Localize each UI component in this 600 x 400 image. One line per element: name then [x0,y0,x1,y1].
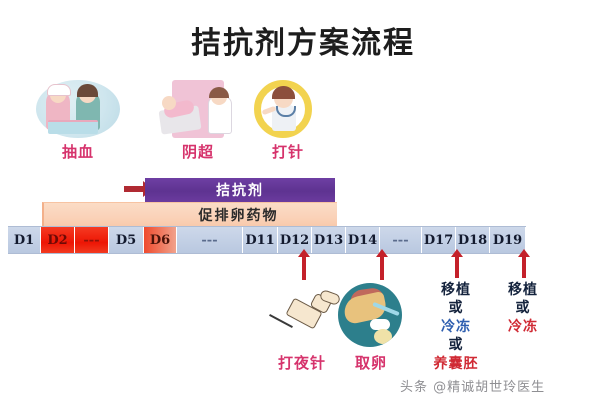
phase-bar-antagonist-label: 拮抗剂 [216,180,264,200]
arrow-up-icon-outcome-1 [455,256,459,278]
ultrasound-doctor-hair [209,87,229,98]
timeline-cell: D11 [243,227,278,253]
outcome-line: 冷冻 [495,318,551,336]
step-blood-draw: 抽血 [30,78,126,162]
timeline-cell: D13 [312,227,346,253]
infographic-root: 拮抗剂方案流程 抽血 [0,0,600,400]
phase-bar-stimulation: 促排卵药物 [42,202,337,227]
arrow-up-icon-outcome-2 [522,256,526,278]
outcome-line: 养囊胚 [428,355,484,373]
timeline-cell: D14 [346,227,380,253]
timeline: D1D2---D5D6---D11D12D13D14---D17D18D19 [8,226,526,254]
nurse-cap-icon [47,84,71,96]
process-step-strip: 抽血 阴超 打针 [0,78,600,168]
blood-draw-illustration [30,78,126,140]
arrow-right-icon-1 [124,186,144,192]
ultrasound-illustration [150,78,246,140]
outcome-line: 移植 [495,281,551,299]
timeline-cell: D1 [8,227,41,253]
phase-bar-antagonist: 拮抗剂 [145,178,335,202]
callout-label-egg-retrieval: 取卵 [330,352,412,373]
timeline-cell: D6 [144,227,177,253]
syringe-illustration [262,288,342,348]
callout-egg-retrieval: 取卵 [330,352,412,373]
step-ultrasound: 阴超 [150,78,246,162]
patient-hair [77,84,98,97]
phase-bar-stimulation-label: 促排卵药物 [103,205,279,225]
timeline-cell: --- [177,227,243,253]
oocyte-shape [374,329,392,344]
arrow-up-icon-trigger [302,256,306,280]
step-injection: 打针 [240,78,336,162]
outcome-line: 或 [428,336,484,354]
timeline-cell: --- [75,227,109,253]
outcome-line: 移植 [428,281,484,299]
step-label-ultrasound: 阴超 [150,141,246,162]
egg-retrieval-circle [338,283,402,347]
outcome-column-1: 移植或冷冻或养囊胚 [428,281,484,373]
exam-table [48,120,98,134]
injection-illustration [240,78,336,140]
egg-retrieval-illustration [338,283,408,353]
timeline-cell: D2 [41,227,75,253]
page-title: 拮抗剂方案流程 [0,18,600,62]
step-label-injection: 打针 [240,141,336,162]
watermark: 头条 @精诚胡世玲医生 [400,376,545,395]
ultrasound-patient-head [162,96,176,110]
timeline-cell: D5 [109,227,144,253]
outcome-line: 冷冻 [428,318,484,336]
outcome-line: 或 [495,299,551,317]
outcome-line: 或 [428,299,484,317]
step-label-blood-draw: 抽血 [30,141,126,162]
arrow-up-icon-retrieval [380,256,384,280]
outcome-column-2: 移植或冷冻 [495,281,551,336]
